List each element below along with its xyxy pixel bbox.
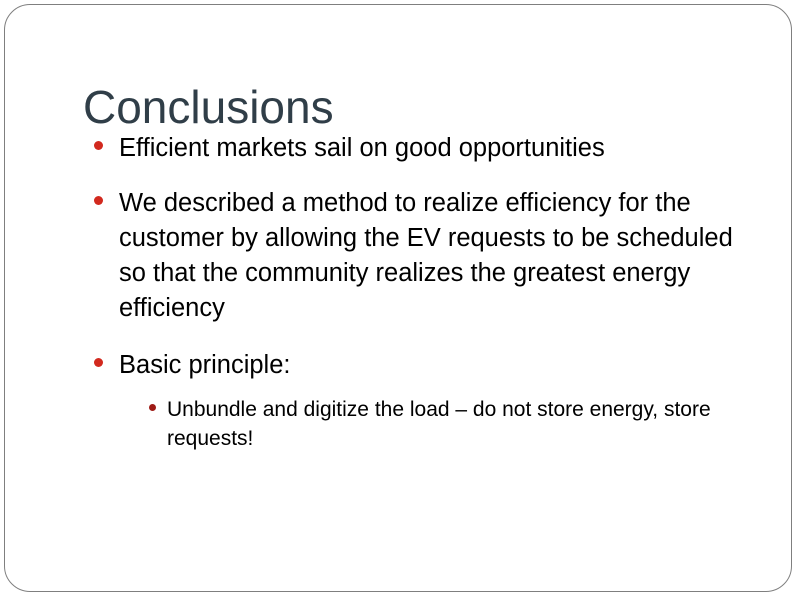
disc-bullet-icon: [94, 141, 103, 150]
sub-list-item-label: Unbundle and digitize the load – do not …: [167, 395, 747, 453]
list-item: We described a method to realize efficie…: [87, 186, 747, 326]
presentation-slide: Conclusions Efficient markets sail on go…: [4, 4, 792, 592]
list-item-label: Efficient markets sail on good opportuni…: [119, 131, 747, 166]
disc-bullet-icon: [94, 196, 103, 205]
list-item: Efficient markets sail on good opportuni…: [87, 131, 747, 166]
sub-bullet-list: Unbundle and digitize the load – do not …: [119, 395, 747, 453]
list-item-label: Basic principle:: [119, 348, 747, 383]
sub-list-item: Unbundle and digitize the load – do not …: [145, 395, 747, 453]
page-title: Conclusions: [83, 80, 723, 134]
disc-bullet-icon: [149, 404, 156, 411]
list-item-label: We described a method to realize efficie…: [119, 186, 747, 326]
list-item: Basic principle: Unbundle and digitize t…: [87, 348, 747, 453]
disc-bullet-icon: [94, 358, 103, 367]
bullet-list: Efficient markets sail on good opportuni…: [87, 131, 747, 453]
